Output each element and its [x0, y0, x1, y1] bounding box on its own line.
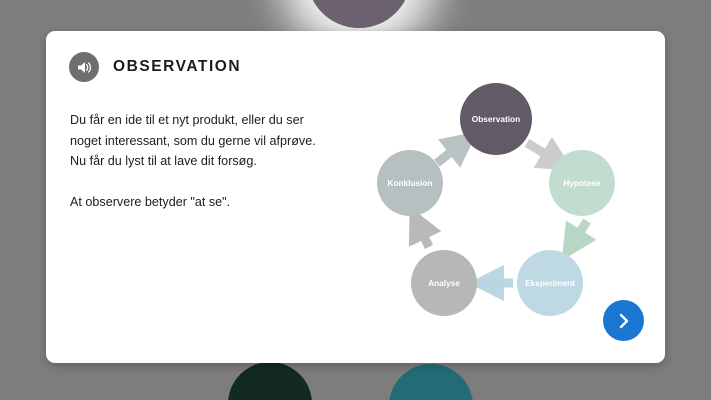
edge-konklusion-observation — [437, 142, 464, 163]
node-analyse-label: Analyse — [428, 278, 460, 288]
edge-observation-hypotese — [527, 143, 559, 162]
page-title: OBSERVATION — [113, 58, 241, 76]
node-eksperiment-label: Eksperiment — [525, 278, 575, 288]
node-observation[interactable]: Observation — [460, 83, 532, 155]
body-paragraph-1: Du får en ide til et nyt produkt, eller … — [70, 110, 332, 172]
bg-dark-green-circle — [228, 362, 312, 400]
edge-analyse-konklusion — [417, 222, 429, 247]
node-eksperiment[interactable]: Eksperiment — [517, 250, 583, 316]
card-header: OBSERVATION — [69, 52, 241, 82]
speaker-icon — [76, 60, 93, 75]
speaker-icon-button[interactable] — [69, 52, 99, 82]
bg-teal-circle — [389, 364, 473, 400]
edge-hypotese-eksperiment — [571, 221, 587, 246]
node-observation-label: Observation — [472, 114, 520, 124]
node-hypotese[interactable]: Hypotese — [549, 150, 615, 216]
scientific-method-cycle-diagram: Observation Hypotese Eksperiment Analyse… — [356, 67, 636, 337]
next-button[interactable] — [603, 300, 644, 341]
node-hypotese-label: Hypotese — [563, 178, 601, 188]
body-paragraph-2: At observere betyder "at se". — [70, 192, 332, 213]
chevron-right-icon — [616, 312, 632, 330]
slide-card: OBSERVATION Du får en ide til et nyt pro… — [46, 31, 665, 363]
node-konklusion[interactable]: Konklusion — [377, 150, 443, 216]
body-copy: Du får en ide til et nyt produkt, eller … — [70, 110, 332, 212]
node-konklusion-label: Konklusion — [387, 178, 432, 188]
bg-observation-circle — [307, 0, 411, 28]
node-analyse[interactable]: Analyse — [411, 250, 477, 316]
